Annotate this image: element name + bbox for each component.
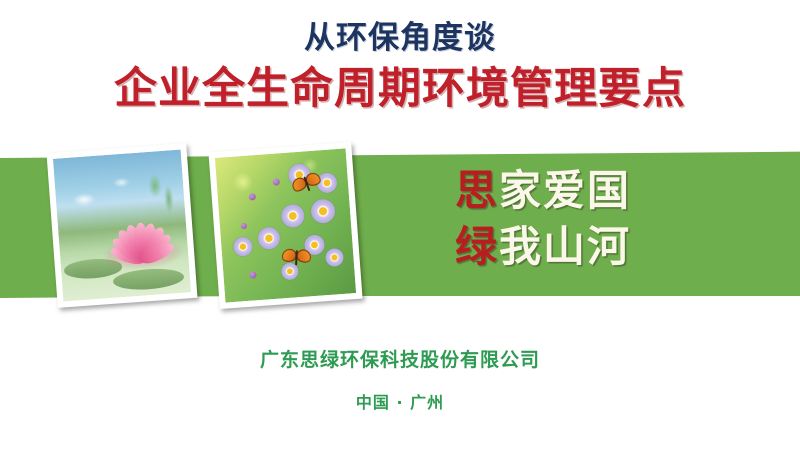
slogan-block: 思家爱国 绿我山河 — [455, 163, 755, 275]
lotus-flower — [101, 210, 182, 262]
slide-main-title: 企业全生命周期环境管理要点 — [0, 62, 800, 116]
flower-bud — [241, 223, 247, 229]
slide-subtitle-line: 从环保角度谈 — [0, 18, 800, 58]
title-block: 从环保角度谈 企业全生命周期环境管理要点 — [0, 18, 800, 116]
asters-with-butterflies-photo — [208, 142, 362, 309]
aster-flower — [257, 226, 281, 250]
slogan-line-1: 思家爱国 — [455, 163, 755, 219]
slogan-line-1-rest: 家爱国 — [499, 166, 631, 215]
company-name: 广东思绿环保科技股份有限公司 — [0, 345, 800, 375]
footer-block: 广东思绿环保科技股份有限公司 中国 · 广州 — [0, 345, 800, 417]
photo-image-lotus — [53, 150, 191, 302]
company-location: 中国 · 广州 — [0, 389, 800, 417]
slogan-line-2: 绿我山河 — [455, 219, 755, 275]
photo-image-asters — [215, 148, 356, 302]
slogan-line-2-accent: 绿 — [455, 222, 499, 271]
presentation-title-slide: 从环保角度谈 企业全生命周期环境管理要点 — [0, 0, 800, 450]
slogan-line-1-accent: 思 — [455, 166, 499, 215]
pink-water-lily-photo — [47, 143, 198, 308]
slogan-line-2-rest: 我山河 — [499, 222, 631, 271]
butterfly-lower — [281, 247, 312, 268]
